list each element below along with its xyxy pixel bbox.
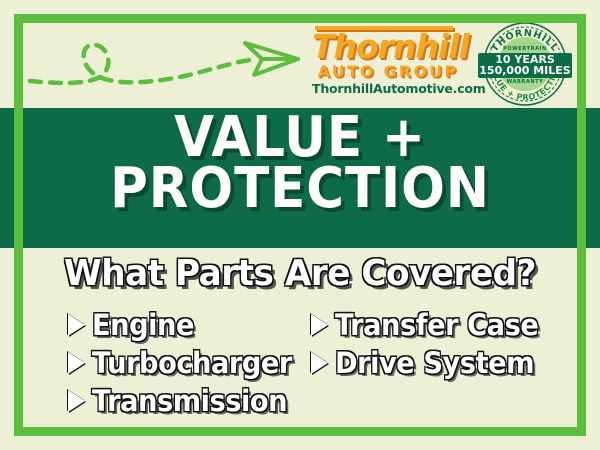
list-item: Engine (68, 307, 305, 343)
headline-line-2: PROTECTION (24, 164, 576, 213)
thornhill-logo[interactable]: Thornhill AUTO GROUP ThornhillAutomotive… (312, 26, 464, 96)
triangle-bullet-icon (68, 314, 85, 336)
covered-parts-list: Engine Turbocharger Transmission Transfe… (0, 307, 600, 417)
warranty-seal: THORNHILL VALUE + PROTECTION POWERTRAIN … (481, 20, 569, 108)
seal-warranty-label: WARRANTY (481, 79, 569, 85)
advertisement-banner: Thornhill AUTO GROUP ThornhillAutomotive… (0, 0, 600, 450)
headline-line-1: VALUE + (24, 113, 576, 162)
part-label: Transmission (92, 384, 287, 418)
parts-column-left: Engine Turbocharger Transmission (68, 307, 305, 421)
logo-subtitle: AUTO GROUP (312, 64, 464, 80)
header-area: Thornhill AUTO GROUP ThornhillAutomotive… (0, 0, 600, 108)
triangle-bullet-icon (311, 352, 328, 374)
logo-wordmark: Thornhill (312, 26, 469, 63)
subheading: What Parts Are Covered? (15, 253, 585, 294)
list-item: Transfer Case (311, 307, 551, 343)
part-label: Transfer Case (335, 308, 538, 342)
part-label: Turbocharger (92, 346, 292, 380)
headline: VALUE + PROTECTION (0, 110, 600, 214)
flight-path-decoration (22, 18, 312, 106)
part-label: Engine (92, 308, 194, 342)
logo-word-text: Thornhill (312, 27, 469, 66)
triangle-bullet-icon (68, 390, 85, 412)
part-label: Drive System (335, 346, 534, 380)
list-item: Turbocharger (68, 345, 305, 381)
seal-miles-value: 150,000 MILES (478, 65, 572, 76)
triangle-bullet-icon (311, 314, 328, 336)
parts-column-right: Transfer Case Drive System (311, 307, 551, 383)
dashed-path-icon (30, 45, 250, 83)
seal-powertrain-label: POWERTRAIN (481, 46, 569, 52)
list-item: Transmission (68, 383, 305, 419)
logo-website-url: ThornhillAutomotive.com (312, 83, 464, 96)
triangle-bullet-icon (68, 352, 85, 374)
list-item: Drive System (311, 345, 551, 381)
logo-overline-bar (315, 26, 453, 30)
seal-banner: 10 YEARS 150,000 MILES (478, 53, 572, 78)
